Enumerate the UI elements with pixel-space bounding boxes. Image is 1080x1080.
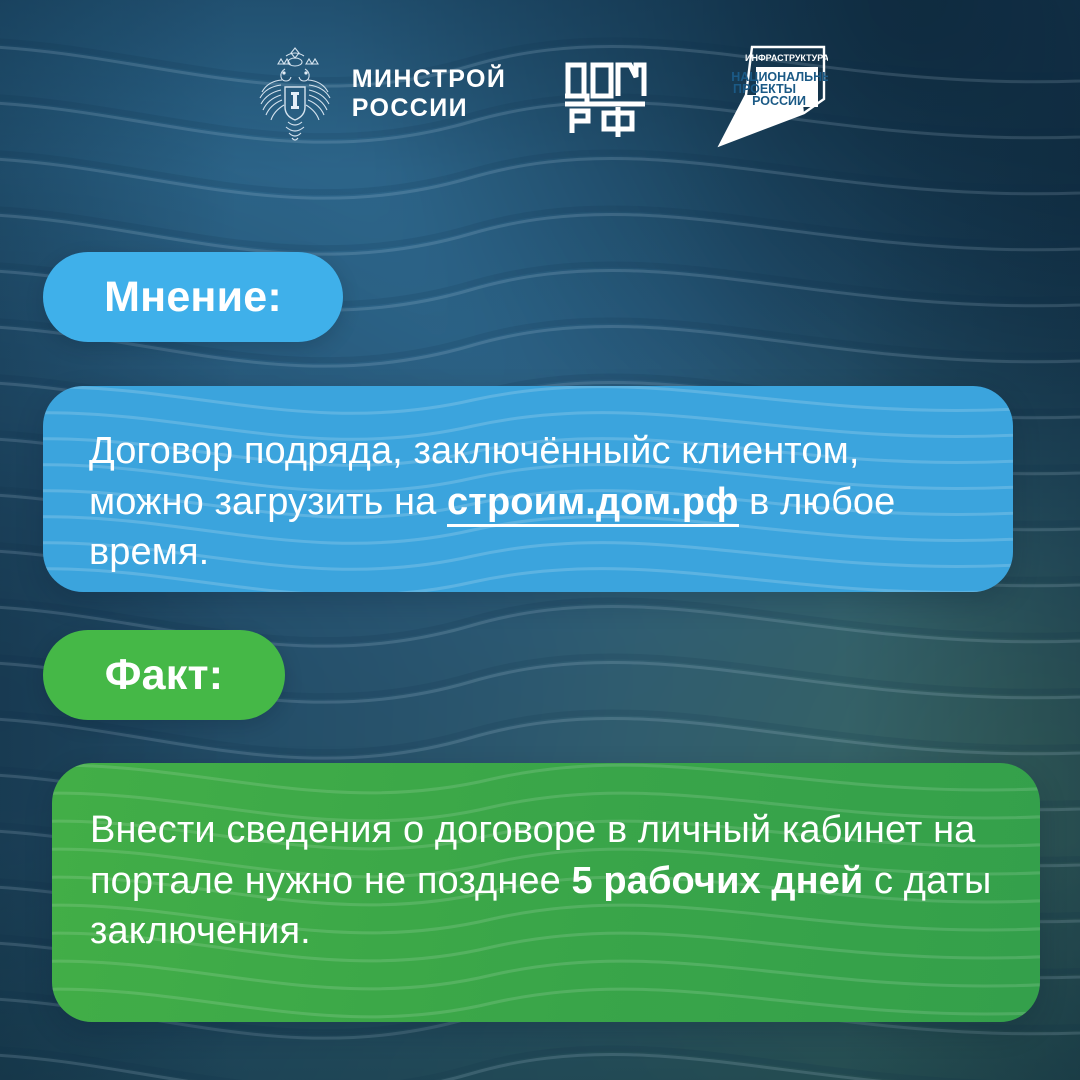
minstroy-line-2: РОССИИ xyxy=(352,94,468,122)
logo-dom-rf xyxy=(560,49,652,139)
minstroy-line-1: МИНСТРОЙ xyxy=(352,65,507,93)
fact-pill-label: Факт: xyxy=(105,651,224,700)
opinion-pill-label: Мнение: xyxy=(104,273,282,322)
minstroy-wordmark: МИНСТРОЙ РОССИИ xyxy=(352,65,507,124)
poster-canvas: МИНСТРОЙ РОССИИ xyxy=(0,0,1080,1080)
header-logo-bar: МИНСТРОЙ РОССИИ xyxy=(0,34,1080,154)
opinion-card: Договор подряда, заключённыйс клиентом, … xyxy=(43,386,1013,592)
fact-pill: Факт: xyxy=(43,630,285,720)
np-tagline: ИНФРАСТРУКТУРА xyxy=(745,53,828,63)
stroim-dom-rf-link[interactable]: строим.дом.рф xyxy=(447,481,738,527)
fact-card-text: Внести сведения о договоре в личный каби… xyxy=(90,805,992,957)
np-line-3: РОССИИ xyxy=(752,94,806,108)
opinion-pill: Мнение: xyxy=(43,252,343,342)
double-headed-eagle-icon xyxy=(252,42,338,146)
opinion-card-text: Договор подряда, заключённыйс клиентом, … xyxy=(89,426,967,578)
fact-emphasis: 5 рабочих дней xyxy=(572,860,864,902)
logo-natsionalnye-proekty-rossii: ИНФРАСТРУКТУРА НАЦИОНАЛЬНЫЕ ПРОЕКТЫ РОСС… xyxy=(706,35,828,153)
fact-card: Внести сведения о договоре в личный каби… xyxy=(52,763,1040,1022)
logo-minstroy-rossii: МИНСТРОЙ РОССИИ xyxy=(252,42,507,146)
